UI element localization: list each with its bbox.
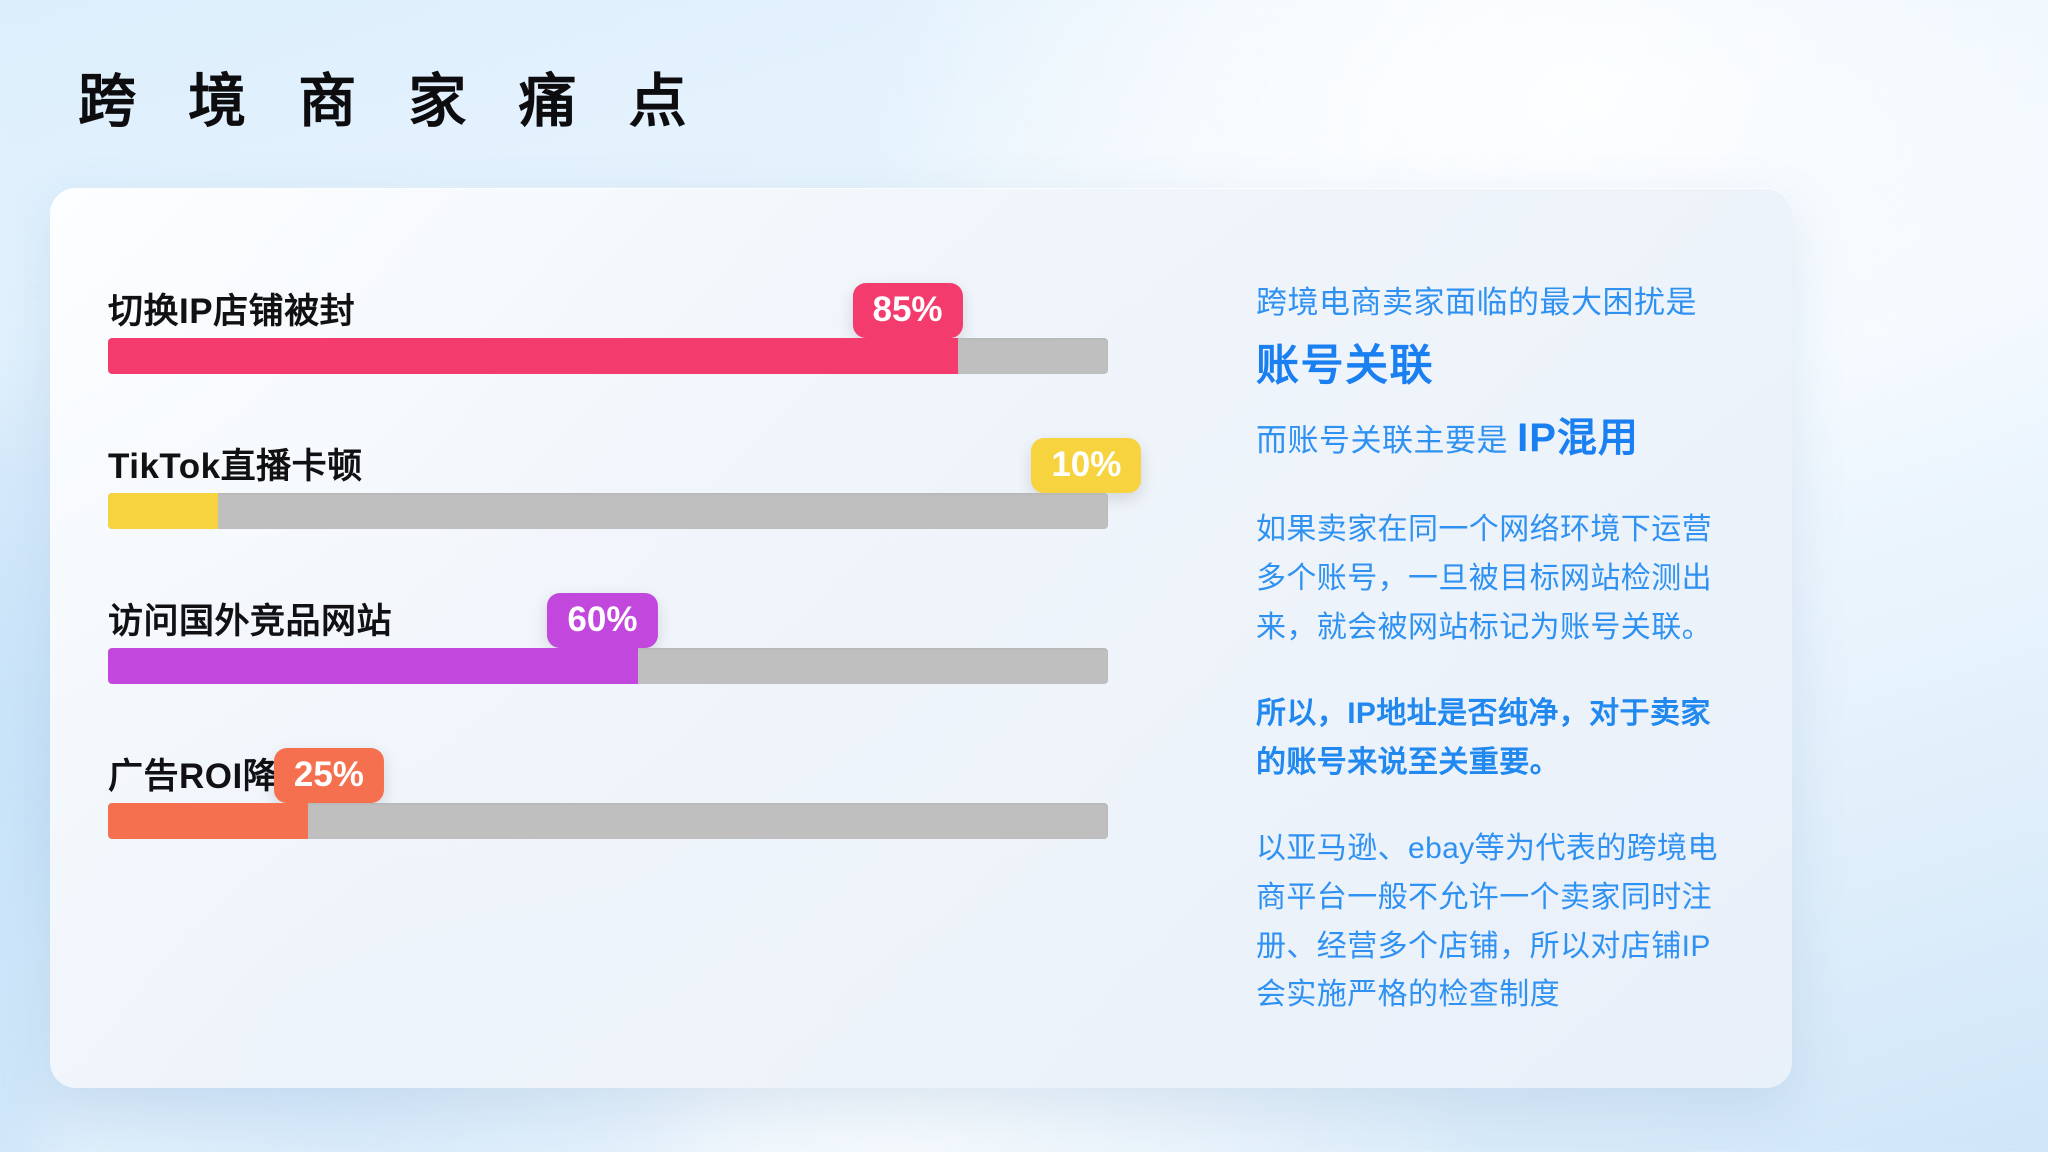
paragraph-0: 如果卖家在同一个网络环境下运营多个账号，一旦被目标网站检测出来，就会被网站标记为… [1256,506,1728,652]
content-card: 切换IP店铺被封 85% TikTok直播卡顿 10% 访问国外竞品网站 60% [50,188,1792,1088]
bar-row-3: 广告ROI降低 25% [108,731,1160,839]
lead-mix-highlight: IP混用 [1517,416,1639,460]
bar-header-2: 访问国外竞品网站 60% [108,576,1160,648]
bar-track-1 [108,493,1108,529]
lead-mix-line: 而账号关联主要是 IP混用 [1256,408,1728,468]
bar-fill-3 [108,803,308,839]
bar-row-1: TikTok直播卡顿 10% [108,421,1160,529]
lead-line: 跨境电商卖家面临的最大困扰是 [1256,280,1728,327]
paragraph-1: 所以，IP地址是否纯净，对于卖家的账号来说至关重要。 [1256,690,1728,787]
bar-fill-0 [108,338,958,374]
bar-track-2 [108,648,1108,684]
bar-header-1: TikTok直播卡顿 10% [108,421,1160,493]
bar-fill-2 [108,648,638,684]
page-title: 跨 境 商 家 痛 点 [78,70,705,134]
bar-track-3 [108,803,1108,839]
bar-value-badge-3: 25% [274,748,384,803]
bar-header-3: 广告ROI降低 25% [108,731,1160,803]
bar-row-2: 访问国外竞品网站 60% [108,576,1160,684]
paragraph-2: 以亚马逊、ebay等为代表的跨境电商平台一般不允许一个卖家同时注册、经营多个店铺… [1256,825,1728,1019]
bar-fill-1 [108,493,218,529]
explanation-pane: 跨境电商卖家面临的最大困扰是 账号关联 而账号关联主要是 IP混用 如果卖家在同… [1160,188,1792,1088]
bar-track-0 [108,338,1108,374]
bar-row-0: 切换IP店铺被封 85% [108,266,1160,374]
pain-point-chart: 切换IP店铺被封 85% TikTok直播卡顿 10% 访问国外竞品网站 60% [50,188,1160,1088]
lead-mix-prefix: 而账号关联主要是 [1256,423,1517,458]
bar-header-0: 切换IP店铺被封 85% [108,266,1160,338]
bar-label-1: TikTok直播卡顿 [108,438,363,489]
bar-label-2: 访问国外竞品网站 [108,593,392,644]
lead-highlight: 账号关联 [1256,339,1728,395]
bar-value-badge-2: 60% [547,593,657,648]
bar-value-badge-1: 10% [1031,438,1141,493]
bar-value-badge-0: 85% [852,283,962,338]
bar-label-0: 切换IP店铺被封 [108,283,355,334]
